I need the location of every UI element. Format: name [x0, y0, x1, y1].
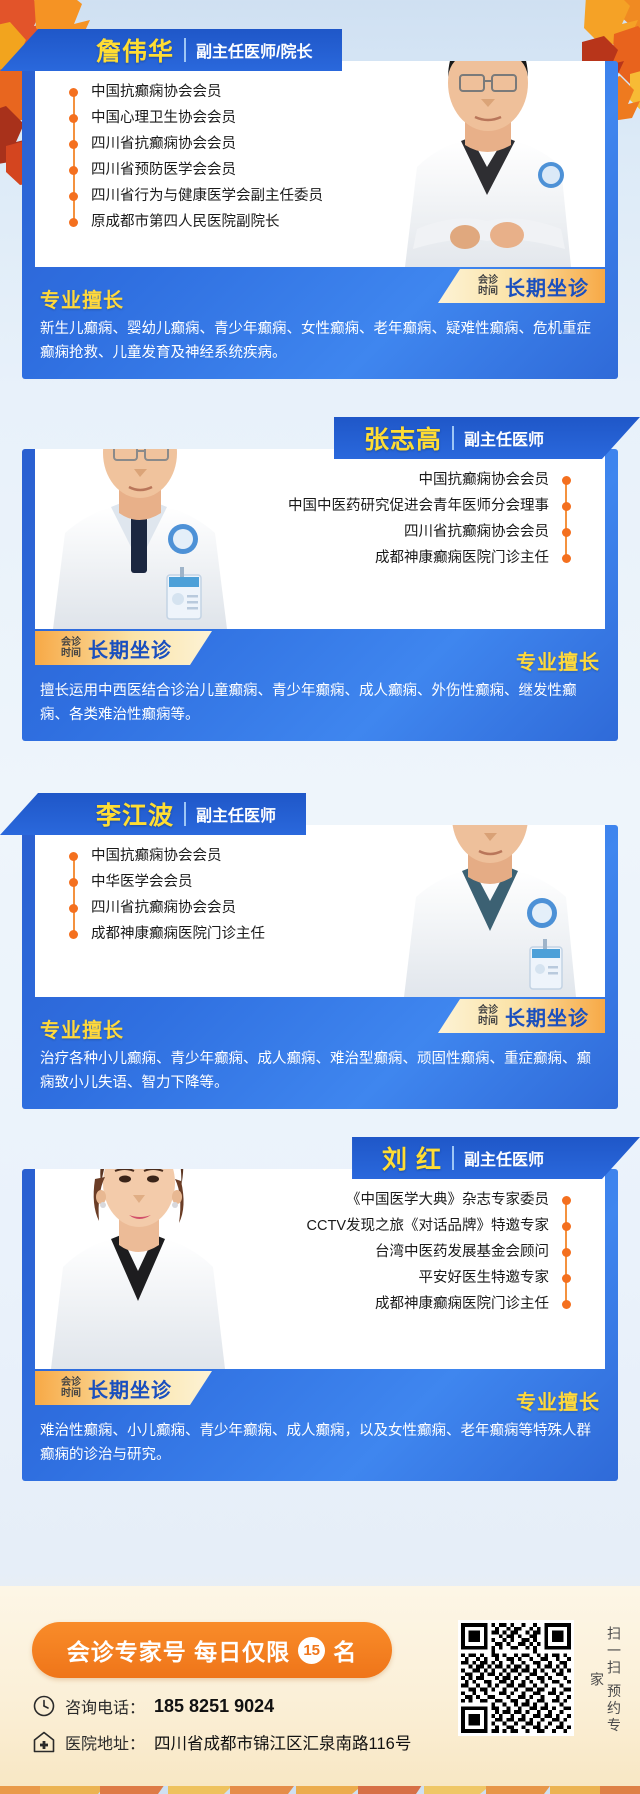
doctor-card: 刘 红 副主任医师	[22, 1156, 618, 1481]
footer: 会诊专家号 每日仅限 15 名 咨询电话： 185 8251 9024 医院地址…	[0, 1586, 640, 1786]
doctor-card-frame: 刘 红 副主任医师	[22, 1169, 618, 1481]
specialty-text: 难治性癫痫、小儿癫痫、青少年癫痫、成人癫痫，以及女性癫痫、老年癫痫等特殊人群癫痫…	[40, 1419, 600, 1467]
specialty-text: 新生儿癫痫、婴幼儿癫痫、青少年癫痫、女性癫痫、老年癫痫、疑难性癫痫、危机重症癫痫…	[40, 317, 600, 365]
credential-text: 平安好医生特邀专家	[419, 1270, 550, 1286]
doctor-card: 张志高 副主任医师	[22, 436, 618, 741]
specialty-text: 治疗各种小儿癫痫、青少年癫痫、成人癫痫、难治型癫痫、顽固性癫痫、重症癫痫、癫痫致…	[40, 1047, 600, 1095]
bullet-dot	[69, 114, 78, 123]
cta-quota-number: 15	[298, 1637, 325, 1664]
doctor-name: 李江波	[96, 796, 174, 832]
credential-item: 四川省预防医学会会员	[69, 157, 605, 183]
credential-item: 中国抗癫痫协会会员	[69, 843, 605, 869]
credential-item: 四川省抗癫痫协会会员	[69, 895, 605, 921]
consult-time-badge: 会诊 时间 长期坐诊	[438, 999, 605, 1033]
credential-list: 中国抗癫痫协会会员 中国中医药研究促进会青年医师分会理事 四川省抗癫痫协会会员 …	[35, 449, 605, 589]
consult-time-label: 会诊 时间	[478, 1005, 498, 1027]
phone-value[interactable]: 185 8251 9024	[154, 1696, 274, 1717]
credential-item: 成都神康癫痫医院门诊主任	[69, 921, 605, 947]
doctor-name: 詹伟华	[96, 32, 174, 68]
credential-item: 四川省抗癫痫协会会员	[35, 519, 571, 545]
doctor-info-panel: 中国抗癫痫协会会员 中国中医药研究促进会青年医师分会理事 四川省抗癫痫协会会员 …	[35, 449, 605, 629]
consult-time-label: 会诊 时间	[61, 637, 81, 659]
credential-item: 《中国医学大典》杂志专家委员	[35, 1187, 571, 1213]
bullet-dot	[562, 528, 571, 537]
doctor-name-banner: 李江波 副主任医师	[0, 793, 306, 835]
credential-text: 中国抗癫痫协会会员	[91, 848, 222, 864]
credential-item: 四川省抗癫痫协会会员	[69, 131, 605, 157]
doctor-title: 副主任医师	[196, 802, 276, 826]
credential-item: 平安好医生特邀专家	[35, 1265, 571, 1291]
credential-text: 台湾中医药发展基金会顾问	[375, 1244, 549, 1260]
bullet-dot	[69, 218, 78, 227]
credential-item: 成都神康癫痫医院门诊主任	[35, 1291, 571, 1317]
bullet-dot	[562, 554, 571, 563]
doctor-card-frame: 詹伟华 副主任医师/院长	[22, 61, 618, 379]
bullet-dot	[562, 1248, 571, 1257]
consult-time-badge: 会诊 时间 长期坐诊	[35, 631, 212, 665]
consult-time-label: 会诊 时间	[61, 1377, 81, 1399]
credential-list: 《中国医学大典》杂志专家委员 CCTV发现之旅《对话品牌》特邀专家 台湾中医药发…	[35, 1169, 605, 1335]
consult-time-badge: 会诊 时间 长期坐诊	[35, 1371, 212, 1405]
credential-text: 中华医学会会员	[91, 874, 193, 890]
doctor-title: 副主任医师	[464, 1146, 544, 1170]
doctor-info-panel: 《中国医学大典》杂志专家委员 CCTV发现之旅《对话品牌》特邀专家 台湾中医药发…	[35, 1169, 605, 1369]
credential-connector	[73, 856, 75, 934]
doctor-card: 詹伟华 副主任医师/院长	[22, 48, 618, 379]
phone-label: 咨询电话：	[65, 1694, 145, 1718]
address-value: 四川省成都市锦江区汇泉南路116号	[154, 1730, 411, 1754]
credential-item: 中国心理卫生协会会员	[69, 105, 605, 131]
credential-text: 中国中医药研究促进会青年医师分会理事	[288, 498, 549, 514]
doctor-name-banner: 刘 红 副主任医师	[352, 1137, 640, 1179]
consult-time-badge: 会诊 时间 长期坐诊	[438, 269, 605, 303]
bullet-dot	[562, 1196, 571, 1205]
credential-text: 中国心理卫生协会会员	[91, 110, 236, 126]
doctor-card: 李江波 副主任医师	[22, 812, 618, 1109]
bullet-dot	[69, 852, 78, 861]
credential-connector	[565, 480, 567, 558]
appointment-cta-button[interactable]: 会诊专家号 每日仅限 15 名	[32, 1622, 392, 1678]
credential-text: 原成都市第四人民医院副院长	[91, 214, 280, 230]
cta-prefix-text: 会诊专家号 每日仅限	[67, 1633, 290, 1667]
credential-list: 中国抗癫痫协会会员 中华医学会会员 四川省抗癫痫协会会员 成都神康癫痫医院门诊主…	[35, 825, 605, 965]
credential-item: CCTV发现之旅《对话品牌》特邀专家	[35, 1213, 571, 1239]
bullet-dot	[562, 476, 571, 485]
name-divider	[452, 1146, 454, 1170]
name-divider	[184, 802, 186, 826]
consult-time-value: 长期坐诊	[505, 1002, 589, 1031]
qr-code[interactable]	[458, 1620, 574, 1736]
doctor-name: 张志高	[364, 420, 442, 456]
clock-icon	[32, 1694, 56, 1718]
consult-time-value: 长期坐诊	[88, 634, 172, 663]
credential-text: 四川省行为与健康医学会副主任委员	[91, 188, 323, 204]
bullet-dot	[69, 878, 78, 887]
bullet-dot	[562, 502, 571, 511]
bullet-dot	[69, 904, 78, 913]
doctor-title: 副主任医师	[464, 426, 544, 450]
hospital-icon	[32, 1730, 56, 1754]
bullet-dot	[562, 1222, 571, 1231]
credential-text: 四川省抗癫痫协会会员	[91, 900, 236, 916]
address-label: 医院地址：	[65, 1730, 145, 1754]
credential-text: 中国抗癫痫协会会员	[419, 472, 550, 488]
doctor-name-banner: 张志高 副主任医师	[334, 417, 640, 459]
credential-text: 成都神康癫痫医院门诊主任	[91, 926, 265, 942]
cta-suffix-text: 名	[333, 1633, 357, 1667]
bullet-dot	[69, 88, 78, 97]
bullet-dot	[562, 1300, 571, 1309]
credential-item: 中国中医药研究促进会青年医师分会理事	[35, 493, 571, 519]
bullet-dot	[69, 140, 78, 149]
name-divider	[452, 426, 454, 450]
credential-text: 四川省预防医学会会员	[91, 162, 236, 178]
specialty-text: 擅长运用中西医结合诊治儿童癫痫、青少年癫痫、成人癫痫、外伤性癫痫、继发性癫痫、各…	[40, 679, 600, 727]
bullet-dot	[69, 192, 78, 201]
credential-item: 原成都市第四人民医院副院长	[69, 209, 605, 235]
bullet-dot	[69, 166, 78, 175]
doctor-card-frame: 李江波 副主任医师	[22, 825, 618, 1109]
credential-list: 中国抗癫痫协会会员 中国心理卫生协会会员 四川省抗癫痫协会会员 四川省预防医学会…	[35, 61, 605, 253]
scan-instruction-text: 扫一扫 预约专家	[598, 1620, 622, 1740]
credential-text: 《中国医学大典》杂志专家委员	[346, 1192, 549, 1208]
consult-time-label: 会诊 时间	[478, 275, 498, 297]
credential-item: 中华医学会会员	[69, 869, 605, 895]
bullet-dot	[69, 930, 78, 939]
credential-text: 四川省抗癫痫协会会员	[404, 524, 549, 540]
credential-connector	[73, 92, 75, 222]
address-row: 医院地址： 四川省成都市锦江区汇泉南路116号	[32, 1730, 411, 1754]
credential-text: 成都神康癫痫医院门诊主任	[375, 1296, 549, 1312]
credential-item: 台湾中医药发展基金会顾问	[35, 1239, 571, 1265]
phone-row: 咨询电话： 185 8251 9024	[32, 1694, 274, 1718]
doctor-name: 刘 红	[382, 1140, 442, 1176]
doctor-info-panel: 中国抗癫痫协会会员 中国心理卫生协会会员 四川省抗癫痫协会会员 四川省预防医学会…	[35, 61, 605, 267]
credential-text: 成都神康癫痫医院门诊主任	[375, 550, 549, 566]
doctor-card-frame: 张志高 副主任医师	[22, 449, 618, 741]
bullet-dot	[562, 1274, 571, 1283]
credential-item: 四川省行为与健康医学会副主任委员	[69, 183, 605, 209]
credential-text: 中国抗癫痫协会会员	[91, 84, 222, 100]
credential-text: 四川省抗癫痫协会会员	[91, 136, 236, 152]
credential-item: 中国抗癫痫协会会员	[69, 79, 605, 105]
credential-item: 中国抗癫痫协会会员	[35, 467, 571, 493]
credential-item: 成都神康癫痫医院门诊主任	[35, 545, 571, 571]
consult-time-value: 长期坐诊	[505, 272, 589, 301]
credential-text: CCTV发现之旅《对话品牌》特邀专家	[307, 1218, 549, 1234]
name-divider	[184, 38, 186, 62]
doctor-info-panel: 中国抗癫痫协会会员 中华医学会会员 四川省抗癫痫协会会员 成都神康癫痫医院门诊主…	[35, 825, 605, 997]
consult-time-value: 长期坐诊	[88, 1374, 172, 1403]
doctor-title: 副主任医师/院长	[196, 38, 312, 62]
doctor-name-banner: 詹伟华 副主任医师/院长	[0, 29, 342, 71]
